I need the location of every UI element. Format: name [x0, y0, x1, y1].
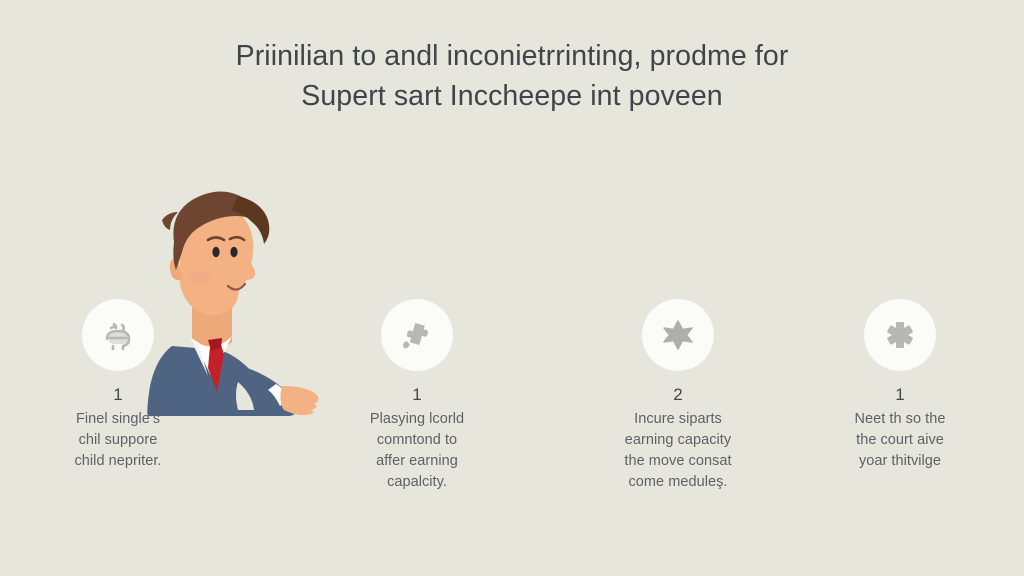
step-4-text: Neet th so the the court aive yoar thitv… [800, 409, 1000, 472]
puzzle-piece-icon [397, 315, 437, 355]
step-4-line-1: Neet th so the [800, 409, 1000, 430]
title-line-2: Supert sart Inccheepe int poveen [0, 76, 1024, 116]
timeline-step-3[interactable]: 2 Incure siparts earning capacity the mo… [578, 299, 778, 493]
step-2-line-4: capalcity. [317, 472, 517, 493]
piggy-bank-icon [98, 315, 138, 355]
step-3-number: 2 [578, 385, 778, 405]
step-3-line-2: earning capacity [578, 430, 778, 451]
page-title: Priinilian to andl inconietrrinting, pro… [0, 36, 1024, 116]
step-1-line-1: Finel single's [18, 409, 218, 430]
step-4-number: 1 [800, 385, 1000, 405]
step-3-line-4: come meduleş. [578, 472, 778, 493]
step-2-icon-circle[interactable] [381, 299, 453, 371]
step-3-text: Incure siparts earning capacity the move… [578, 409, 778, 493]
step-1-number: 1 [18, 385, 218, 405]
six-point-star-icon [658, 315, 698, 355]
step-3-line-1: Incure siparts [578, 409, 778, 430]
timeline-step-2[interactable]: 1 Plasying lcorld comntond to affer earn… [317, 299, 517, 493]
step-4-line-3: yoar thitvilge [800, 451, 1000, 472]
infographic-canvas: Priinilian to andl inconietrrinting, pro… [0, 0, 1024, 576]
step-4-line-2: the court aive [800, 430, 1000, 451]
step-3-icon-circle[interactable] [642, 299, 714, 371]
step-2-text: Plasying lcorld comntond to affer earnin… [317, 409, 517, 493]
timeline-step-1[interactable]: 1 Finel single's chil suppore child nepr… [18, 299, 218, 472]
timeline-step-4[interactable]: 1 Neet th so the the court aive yoar thi… [800, 299, 1000, 472]
title-line-1: Priinilian to andl inconietrrinting, pro… [0, 36, 1024, 76]
step-2-line-2: comntond to [317, 430, 517, 451]
step-1-text: Finel single's chil suppore child neprit… [18, 409, 218, 472]
step-2-line-3: affer earning [317, 451, 517, 472]
step-2-number: 1 [317, 385, 517, 405]
asterisk-star-icon [880, 315, 920, 355]
step-2-line-1: Plasying lcorld [317, 409, 517, 430]
step-3-line-3: the move consat [578, 451, 778, 472]
step-4-icon-circle[interactable] [864, 299, 936, 371]
step-1-line-2: chil suppore [18, 430, 218, 451]
step-1-line-3: child nepriter. [18, 451, 218, 472]
step-1-icon-circle[interactable] [82, 299, 154, 371]
